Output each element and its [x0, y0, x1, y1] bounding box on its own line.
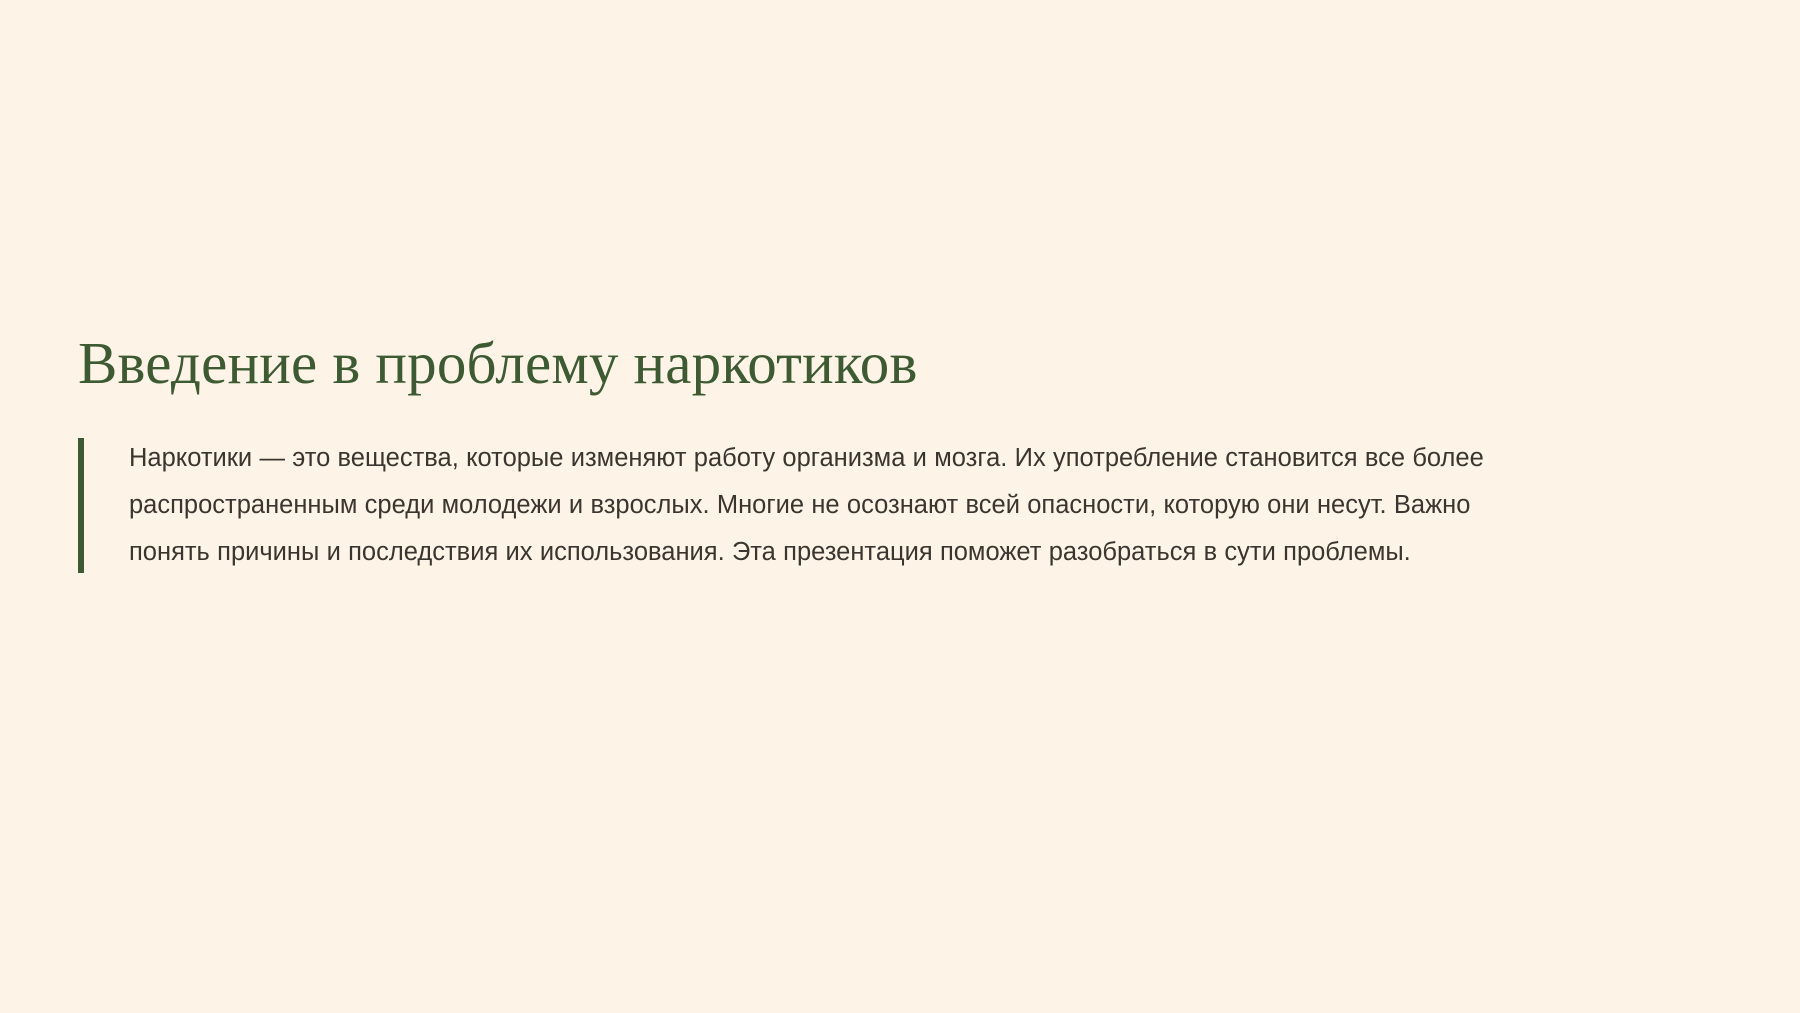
- slide-content-container: Введение в проблему наркотиков Наркотики…: [78, 330, 1718, 576]
- body-paragraph: Наркотики — это вещества, которые изменя…: [129, 435, 1519, 576]
- accent-bar: [78, 438, 84, 573]
- page-title: Введение в проблему наркотиков: [78, 330, 1718, 396]
- presentation-slide: Введение в проблему наркотиков Наркотики…: [0, 0, 1800, 1013]
- body-quote-block: Наркотики — это вещества, которые изменя…: [78, 435, 1718, 576]
